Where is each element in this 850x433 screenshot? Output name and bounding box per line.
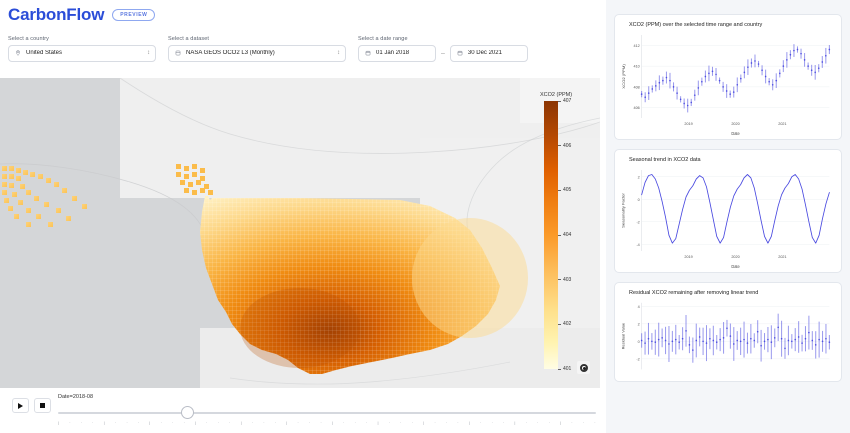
timeline-slider-label: Date=2018-08 [58,394,93,400]
date-start-input[interactable]: 01 Jan 2018 [358,45,436,62]
country-label: Select a country [8,36,156,42]
colorbar-tick: 407 [558,98,571,104]
chart-title-xco2: XCO2 (PPM) over the selected time range … [621,22,835,28]
colorbar-tick: 405 [558,187,571,193]
timeline-tick: · [446,419,447,427]
timeline-tick: · [160,419,161,427]
timeline-tick: · [172,419,173,427]
timeline-tick: | [560,419,561,427]
timeline-tick: · [571,419,572,427]
app-header: CarbonFlow PREVIEW [0,0,600,30]
svg-text:412: 412 [634,43,640,48]
calendar-icon-start [365,50,371,56]
map-alaska-cells [2,166,87,227]
colorbar-tick: 406 [558,143,571,149]
timeline-tick: · [252,419,253,427]
timeline-tick: | [286,419,287,427]
timeline-tick: · [69,419,70,427]
date-end-input[interactable]: 30 Dec 2021 [450,45,528,62]
timeline-tick: · [549,419,550,427]
preview-badge: PREVIEW [112,9,155,21]
svg-text:2019: 2019 [684,254,692,259]
timeline-slider-handle[interactable] [181,406,194,419]
play-icon [18,403,23,409]
stop-button[interactable] [34,398,51,413]
svg-text:-4: -4 [636,242,640,247]
timeline-controls: Date=2018-08 |···|···|···|···|···|···|··… [0,392,600,433]
timeline-tick: · [206,419,207,427]
timeline-tick: · [309,419,310,427]
timeline-tick: · [503,419,504,427]
timeline-tick: · [583,419,584,427]
svg-text:0: 0 [638,197,640,202]
svg-text:406: 406 [634,105,640,110]
svg-text:-2: -2 [636,357,639,361]
chart-card-seasonal: Seasonal trend in XCO2 data 20-2-4201920… [614,149,842,273]
chevron-updown-icon: ↕ [147,50,150,56]
chart-plot-seasonal[interactable]: 20-2-4201920202021DateSeasonality Factor [621,166,835,269]
chart-card-residual: Residual XCO2 remaining after removing l… [614,282,842,382]
location-pin-icon [15,50,21,56]
svg-text:2021: 2021 [778,121,786,126]
timeline-tick: · [138,419,139,427]
timeline-tick: · [275,419,276,427]
calendar-icon-end [457,50,463,56]
svg-text:2: 2 [638,174,640,179]
map-canvas[interactable] [0,78,600,388]
country-value: United States [26,50,149,56]
colorbar-tick: 402 [558,321,571,327]
country-select[interactable]: United States ↕ [8,45,156,62]
timeline-tick: · [297,419,298,427]
timeline-tick: | [332,419,333,427]
timeline-tick: · [389,419,390,427]
timeline-tick: · [594,419,595,427]
svg-text:Date: Date [731,264,740,269]
timeline-tick: | [195,419,196,427]
timeline-tick: · [343,419,344,427]
timeline-slider-track[interactable] [58,412,596,414]
chart-card-xco2: XCO2 (PPM) over the selected time range … [614,14,842,140]
daterange-field: Select a date range 01 Jan 2018 – 30 Dec… [358,36,530,62]
date-separator: – [441,50,445,57]
svg-text:Residual Value: Residual Value [621,322,626,349]
colorbar-tick: 404 [558,232,571,238]
svg-text:Seasonality Factor: Seasonality Factor [621,192,626,227]
controls-bar: Select a country United States ↕ Select … [0,30,600,76]
stop-icon [40,403,45,408]
timeline-tick: | [423,419,424,427]
daterange-label: Select a date range [358,36,530,42]
timeline-tick: · [366,419,367,427]
timeline-tick: | [377,419,378,427]
map-westcoast-cells [176,164,213,195]
date-end-value: 30 Dec 2021 [468,50,521,56]
timeline-tick: | [514,419,515,427]
charts-panel: XCO2 (PPM) over the selected time range … [606,0,850,433]
svg-text:Date: Date [731,131,740,136]
dataset-label: Select a dataset [168,36,346,42]
timeline-tick: · [126,419,127,427]
timeline-slider[interactable]: Date=2018-08 |···|···|···|···|···|···|··… [58,394,596,428]
svg-text:4: 4 [638,305,640,309]
svg-text:-2: -2 [636,219,639,224]
svg-text:2021: 2021 [778,254,786,259]
chart-title-residual: Residual XCO2 remaining after removing l… [621,290,835,296]
timeline-tick: | [469,419,470,427]
timeline-tick: | [104,419,105,427]
timeline-tick: · [491,419,492,427]
carbonflow-app: CarbonFlow PREVIEW Select a country Unit… [0,0,850,433]
timeline-tick: · [183,419,184,427]
timeline-tick: · [320,419,321,427]
database-icon [175,50,181,56]
timeline-tick: · [526,419,527,427]
timeline-tick: · [434,419,435,427]
timeline-tick: · [457,419,458,427]
chart-plot-residual[interactable]: 420-2Residual Value [621,299,835,377]
timeline-tick: · [81,419,82,427]
svg-text:410: 410 [634,64,640,69]
dataset-field: Select a dataset NASA GEOS OCO2 L3 (Mont… [168,36,346,62]
timeline-tick: | [149,419,150,427]
timeline-tick: · [229,419,230,427]
timeline-tick: · [355,419,356,427]
svg-text:2020: 2020 [731,121,739,126]
timeline-tick: · [218,419,219,427]
timeline-tick: · [263,419,264,427]
svg-text:0: 0 [638,340,640,344]
timeline-tick: · [412,419,413,427]
chart-plot-xco2[interactable]: 412410408406201920202021DateXCO2 (PPM) [621,31,835,136]
app-brand: CarbonFlow [8,5,104,25]
dataset-value: NASA GEOS OCO2 L3 (Monthly) [186,50,339,56]
svg-text:XCO2 (PPM): XCO2 (PPM) [621,64,626,89]
timeline-tick: · [92,419,93,427]
svg-text:408: 408 [634,84,640,89]
play-button[interactable] [12,398,29,413]
timeline-tick: · [400,419,401,427]
colorbar-ticks: 407406405404403402401 [558,101,598,369]
timeline-tick: | [58,419,59,427]
timeline-tick: | [241,419,242,427]
colorbar-gradient [544,101,558,369]
date-start-value: 01 Jan 2018 [376,50,429,56]
timeline-tick: · [115,419,116,427]
map-vector-layer [0,78,600,388]
colorbar-tick: 403 [558,277,571,283]
svg-text:2020: 2020 [731,254,739,259]
colorbar-tick: 401 [558,366,571,372]
chart-title-seasonal: Seasonal trend in XCO2 data [621,157,835,163]
svg-text:2019: 2019 [684,121,692,126]
country-field: Select a country United States ↕ [8,36,156,62]
timeline-tick: · [480,419,481,427]
dataset-select[interactable]: NASA GEOS OCO2 L3 (Monthly) ↕ [168,45,346,62]
map-colorbar: XCO2 (PPM) 407406405404403402401 [540,92,600,382]
timeline-tick: · [537,419,538,427]
svg-text:2: 2 [638,322,640,326]
timeline-slider-ticks: |···|···|···|···|···|···|···|···|···|···… [58,419,596,427]
chevron-updown-icon-dataset: ↕ [337,50,340,56]
